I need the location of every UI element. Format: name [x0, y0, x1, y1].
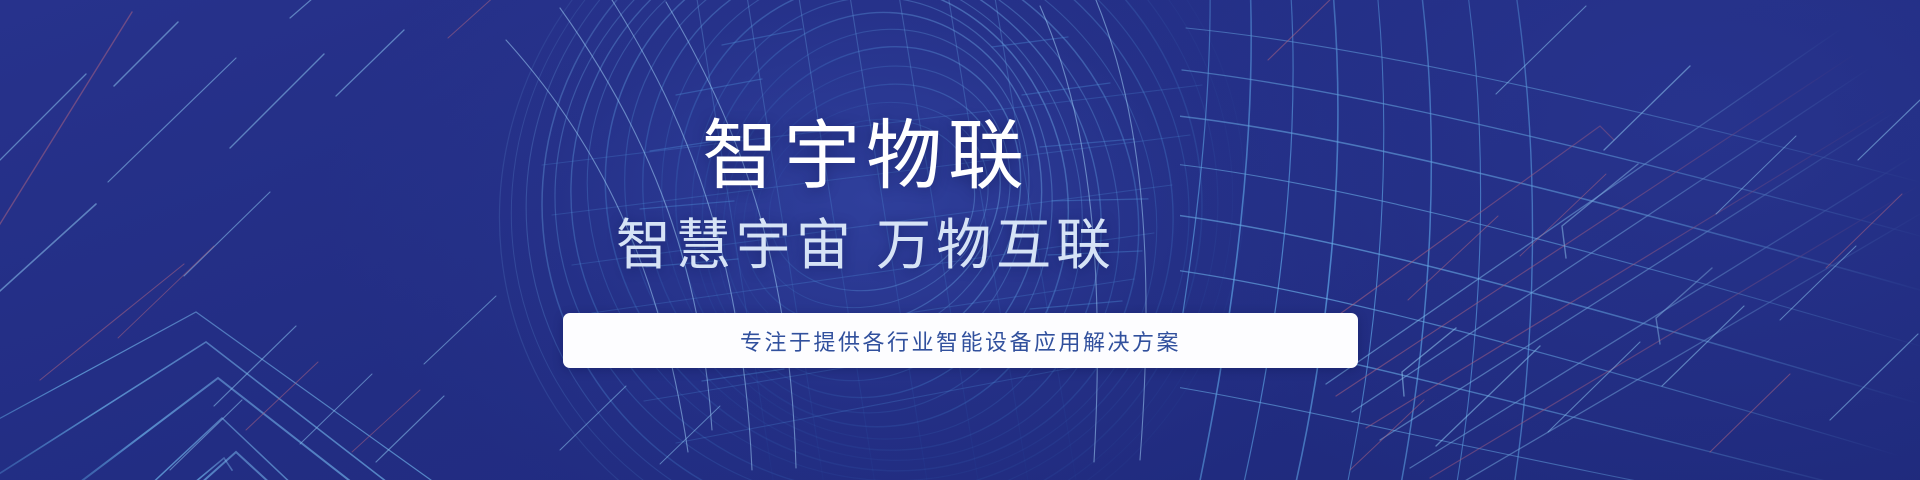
tagline-text: 专注于提供各行业智能设备应用解决方案: [740, 325, 1181, 357]
hero-banner: 智宇物联 智慧宇宙 万物互联 专注于提供各行业智能设备应用解决方案: [0, 0, 1920, 480]
banner-main-title: 智宇物联: [0, 119, 1920, 195]
banner-sub-title: 智慧宇宙 万物互联: [0, 218, 1920, 273]
tagline-banner-box: 专注于提供各行业智能设备应用解决方案: [563, 313, 1358, 368]
banner-content: 智宇物联 智慧宇宙 万物互联 专注于提供各行业智能设备应用解决方案: [0, 0, 1920, 480]
